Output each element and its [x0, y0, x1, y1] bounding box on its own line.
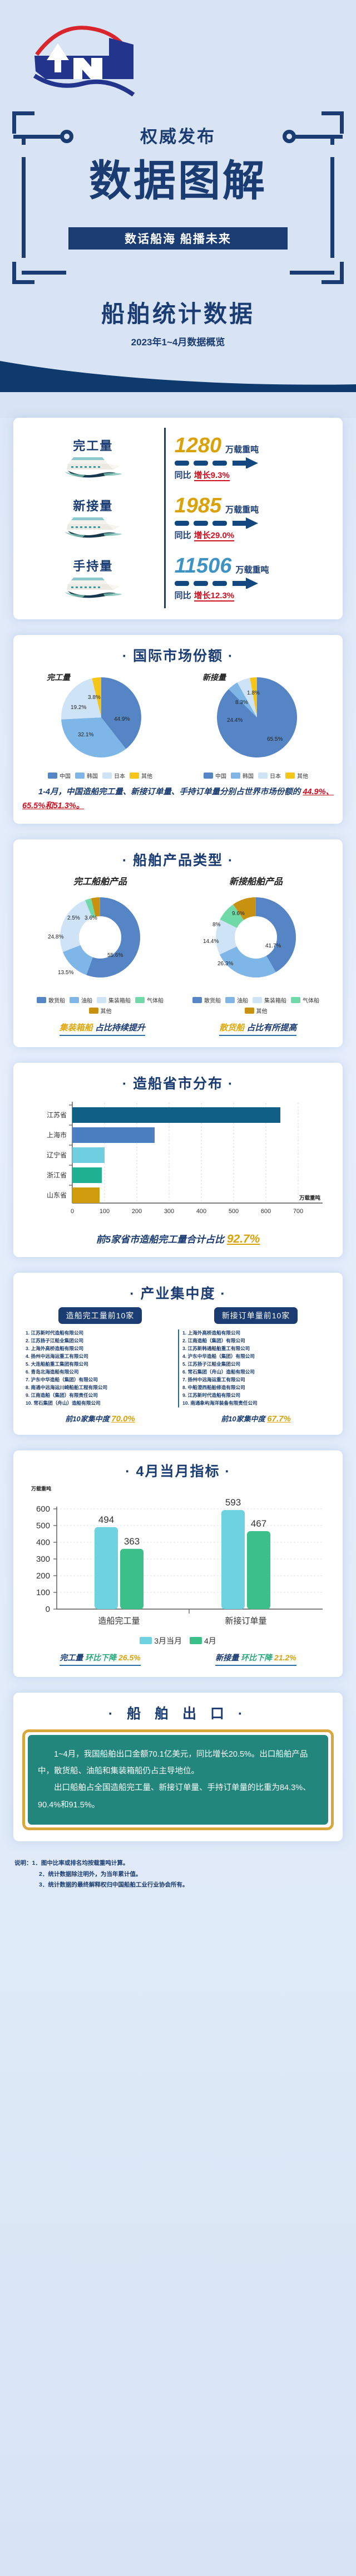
yoy-value: 增长9.3%: [194, 471, 230, 481]
bar-shanghai: [72, 1127, 155, 1143]
metrics-labels-column: 完工量 新接量: [22, 428, 166, 608]
list-item: 3. 上海外高桥造船有限公司: [26, 1345, 175, 1353]
footnote-item: 2．统计数据除注明外，为当年累计值。: [14, 1869, 342, 1880]
list-item: 2. 江苏扬子江船业集团公司: [26, 1337, 175, 1345]
legend-label: 日本: [114, 771, 125, 780]
donut-chart-completion: 55.6% 13.5% 24.8% 2.5% 3.6%: [44, 887, 156, 990]
note-subject: 完工量: [60, 1653, 83, 1662]
legend-label: 气体船: [303, 996, 319, 1004]
company-list-neworders: 1. 上海外高桥造船有限公司 2. 江南造船（集团）有限公司 3. 江苏新韩通船…: [178, 1329, 334, 1407]
bar-liaoning: [72, 1147, 105, 1163]
legend-label: 其他: [256, 1006, 268, 1015]
list-item: 6. 青岛北海造船有限公司: [26, 1368, 175, 1376]
industry-concentration-card: · 产业集中度 · 造船完工量前10家 新接订单量前10家 1. 江苏新时代造船…: [13, 1273, 343, 1434]
legend-label: 散货船: [204, 996, 221, 1004]
tagline-rest: 占比持续提升: [93, 1023, 145, 1033]
pie-value-label: 32.1%: [78, 732, 93, 738]
list-item: 8. 南通中远海运川崎船舶工程有限公司: [26, 1384, 175, 1392]
ytick-label: 江苏省: [47, 1111, 67, 1119]
export-frame: 1~4月，我国船舶出口金额70.1亿美元，同比增长20.5%。出口船舶产品中，散…: [22, 1729, 334, 1831]
ship-export-card: · 船 舶 出 口 · 1~4月，我国船舶出口金额70.1亿美元，同比增长20.…: [13, 1693, 343, 1842]
legend-label: 其他: [141, 771, 152, 780]
list-item: 2. 江南造船（集团）有限公司: [182, 1337, 330, 1345]
donut-value-label: 26.3%: [217, 961, 233, 967]
xtick-label: 100: [100, 1208, 110, 1215]
bar-march-neworders: [221, 1510, 245, 1609]
page-header: 权威发布 数据图解 数话船海 船播未来 船舶统计数据 2023年1~4月数据概览: [0, 0, 356, 418]
xtick-label: 700: [293, 1208, 303, 1215]
legend-neworders: 中国 韩国 日本 其他: [204, 771, 308, 780]
donut-value-label: 24.8%: [48, 934, 63, 940]
list-item: 6. 常石集团（舟山）造船有限公司: [182, 1368, 330, 1376]
list-item: 3. 江苏新韩通船舶重工有限公司: [182, 1345, 330, 1353]
province-note: 前5家省市造船完工量合计占比 92.7%: [22, 1231, 334, 1246]
bar-value-label: 593: [225, 1497, 241, 1508]
list-item: 1. 上海外高桥造船有限公司: [182, 1329, 330, 1337]
footnote-item: 说明：1．图中比率或排名均按载重吨计算。: [14, 1858, 342, 1869]
section-title: · 船舶产品类型 ·: [22, 849, 334, 869]
ytick-label: 辽宁省: [47, 1151, 67, 1159]
axis-unit-label: 万载重吨: [299, 1195, 321, 1201]
list-item: 4. 沪东中华造船（集团）有限公司: [182, 1353, 330, 1361]
bar-shandong: [72, 1187, 100, 1203]
list-item: 7. 沪东中华造船（集团）有限公司: [26, 1376, 175, 1384]
bar-march-completion: [95, 1527, 118, 1609]
market-share-card: · 国际市场份额 · 完工量 44.9% 32.1% 19.2% 3.8% 新接…: [13, 635, 343, 824]
xtick-label: 300: [164, 1208, 174, 1215]
pie-value-label: 44.9%: [114, 716, 130, 722]
metric-label-row: 完工量: [22, 428, 164, 488]
section-title: · 船 舶 出 口 ·: [22, 1703, 334, 1723]
ytick-label: 浙江省: [47, 1171, 67, 1179]
legend-label: 油船: [237, 996, 248, 1004]
donut-chart-neworders: 41.7% 26.3% 14.4% 8% 9.6%: [200, 887, 311, 990]
metric-value-row: 1985 万载重吨 同比增长29.0%: [175, 488, 334, 548]
pie-value-label: 24.4%: [227, 717, 243, 724]
xtick-label: 200: [132, 1208, 142, 1215]
donut-value-label: 3.6%: [85, 915, 97, 921]
xtick-label: 新接订单量: [225, 1616, 266, 1626]
company-list-completion: 1. 江苏新时代造船有限公司 2. 江苏扬子江船业集团公司 3. 上海外高桥造船…: [22, 1329, 178, 1407]
legend-label: 日本: [270, 771, 281, 780]
arrow-right-icon: [175, 578, 264, 589]
legend-label: 韩国: [243, 771, 254, 780]
metric-label-row: 新接量: [22, 488, 164, 548]
pie-value-label: 19.2%: [71, 705, 86, 711]
list-item: 10. 南通象屿海洋装备有限责任公司: [182, 1400, 330, 1407]
metric-value-row: 11506 万载重吨 同比增长12.3%: [175, 548, 334, 608]
note-value: 26.5%: [118, 1653, 141, 1662]
yoy-prefix: 同比: [175, 531, 191, 540]
legend-label: 其他: [297, 771, 308, 780]
product-tagline: 集装箱船 占比持续提升: [60, 1021, 145, 1036]
note-lead: 前5家省市造船完工量合计占比: [96, 1234, 227, 1245]
donut-value-label: 8%: [212, 922, 221, 928]
donut-value-label: 2.5%: [67, 915, 80, 921]
bar-value-label: 363: [124, 1536, 140, 1547]
conc-value: 67.7%: [267, 1414, 291, 1424]
legend-label: 油船: [81, 996, 92, 1004]
legend-product-neworders: 散货船 油船 集装箱船 气体船 其他: [184, 996, 328, 1015]
list-item: 5. 江苏扬子江船业集团公司: [182, 1361, 330, 1368]
april-note-neworders: 新接量 环比下降 21.2%: [215, 1652, 296, 1666]
april-legend: 3月当月 4月: [22, 1635, 334, 1646]
pill-neworders-top10: 新接订单量前10家: [214, 1307, 298, 1324]
province-bar-chart: 江苏省 上海市 辽宁省 浙江省 山东省 0 100 200 300 400 50…: [22, 1097, 334, 1225]
ytick-label: 山东省: [47, 1191, 67, 1199]
metric-value: 1280: [175, 435, 222, 456]
wave-divider: [0, 356, 356, 392]
legend-label: 4月: [204, 1635, 216, 1646]
note-direction: 环比下降: [85, 1653, 116, 1662]
ytick-label: 300: [36, 1555, 50, 1564]
axis-unit-label: 万载重吨: [31, 1485, 334, 1492]
authority-label: 权威发布: [12, 123, 344, 148]
arrow-right-icon: [175, 517, 264, 529]
province-distribution-card: · 造船省市分布 · 江苏省 上海市 辽宁省 浙江省 山东省: [13, 1063, 343, 1257]
yoy-prefix: 同比: [175, 591, 191, 600]
note-lead: 1-4月，中国造船完工量、新接订单量、手持订单量分别占世界市场份额的: [38, 788, 303, 796]
metric-unit: 万载重吨: [225, 443, 259, 455]
pill-completion-top10: 造船完工量前10家: [58, 1307, 142, 1324]
ytick-label: 上海市: [47, 1131, 67, 1139]
conc-lead: 前10家集中度: [65, 1415, 111, 1423]
note-direction: 环比下降: [241, 1653, 272, 1662]
bar-value-label: 494: [98, 1514, 114, 1525]
bar-april-neworders: [247, 1531, 270, 1609]
xtick-label: 造船完工量: [98, 1616, 140, 1626]
cansi-logo-icon: [24, 21, 144, 102]
market-share-note: 1-4月，中国造船完工量、新接订单量、手持订单量分别占世界市场份额的 44.9%…: [22, 785, 334, 813]
legend-label: 韩国: [87, 771, 98, 780]
concentration-left: 前10家集中度 70.0%: [65, 1413, 135, 1424]
april-indicators-card: · 4月当月指标 · 万载重吨 600 500 400 300 200 100: [13, 1450, 343, 1677]
legend-label: 集装箱船: [264, 996, 286, 1004]
legend-product-completion: 散货船 油船 集装箱船 气体船 其他: [28, 996, 172, 1015]
april-bar-chart: 600 500 400 300 200 100 0 494 363 593 46…: [22, 1492, 334, 1631]
donut-value-label: 41.7%: [265, 943, 281, 949]
section-title: · 国际市场份额 ·: [22, 645, 334, 665]
product-tagline: 散货船 占比有所提高: [219, 1021, 296, 1036]
donut-value-label: 13.5%: [58, 970, 73, 976]
legend-label: 其他: [101, 1006, 112, 1015]
legend-label: 3月当月: [154, 1635, 182, 1646]
xtick-label: 400: [196, 1208, 206, 1215]
ytick-label: 400: [36, 1538, 50, 1547]
list-item: 1. 江苏新时代造船有限公司: [26, 1329, 175, 1337]
legend-label: 中国: [215, 771, 226, 780]
section-title: · 产业集中度 ·: [22, 1283, 334, 1303]
pie-value-label: 65.5%: [267, 736, 283, 742]
metrics-values-column: 1280 万载重吨 同比增长9.3% 1985 万载重吨 同比增: [166, 428, 334, 608]
page-subtitle: 船舶统计数据: [0, 295, 356, 329]
list-item: 9. 江苏新时代造船有限公司: [182, 1392, 330, 1400]
donut-heading: 完工船舶产品: [73, 874, 127, 887]
pie-chart-completion: 完工量 44.9% 32.1% 19.2% 3.8%: [50, 669, 150, 766]
product-type-card: · 船舶产品类型 · 完工船舶产品 新接船舶产品 55.6% 13.5% 24.…: [13, 839, 343, 1047]
list-item: 10. 常石集团（舟山）造船有限公司: [26, 1400, 175, 1407]
april-note-completion: 完工量 环比下降 26.5%: [60, 1652, 140, 1666]
legend-label: 中国: [60, 771, 71, 780]
tagline-emphasis: 集装箱船: [60, 1023, 93, 1033]
xtick-label: 600: [261, 1208, 271, 1215]
xtick-label: 0: [71, 1208, 74, 1215]
ship-icon: [60, 455, 126, 480]
list-item: 4. 扬州中远海运重工有限公司: [26, 1353, 175, 1361]
section-title: · 4月当月指标 ·: [22, 1460, 334, 1480]
tagline-rest: 占比有所提高: [244, 1023, 296, 1033]
bar-jiangsu: [72, 1107, 280, 1123]
conc-value: 70.0%: [111, 1414, 135, 1424]
yoy-value: 增长29.0%: [194, 531, 235, 541]
metric-unit: 万载重吨: [225, 504, 259, 515]
donut-heading: 新接船舶产品: [229, 874, 283, 887]
ship-icon: [60, 575, 126, 600]
metric-label: 完工量: [73, 436, 113, 454]
metric-label-row: 手持量: [22, 548, 164, 608]
pie-value-label: 1.8%: [247, 690, 260, 696]
conc-lead: 前10家集中度: [221, 1415, 267, 1423]
donut-value-label: 14.4%: [203, 938, 219, 945]
bar-zhejiang: [72, 1167, 102, 1183]
ytick-label: 100: [36, 1588, 50, 1597]
bar-april-completion: [120, 1548, 144, 1609]
pie-caption: 新接量: [202, 672, 226, 683]
legend-label: 气体船: [147, 996, 164, 1004]
footnote-item: 3．统计数据的最终解释权归中国船舶工业行业协会所有。: [14, 1880, 342, 1890]
slogan-banner: 数话船海 船播未来: [68, 227, 288, 250]
page-title: 数据图解: [0, 160, 356, 203]
ytick-label: 500: [36, 1521, 50, 1531]
footnotes: 说明：1．图中比率或排名均按载重吨计算。 2．统计数据除注明外，为当年累计值。 …: [14, 1858, 342, 1890]
export-paragraph-2: 出口船舶占全国造船完工量、新接订单量、手持订单量的比重为84.3%、90.4%和…: [38, 1780, 318, 1814]
ytick-label: 600: [36, 1504, 50, 1514]
tagline-emphasis: 散货船: [219, 1023, 244, 1033]
arrow-right-icon: [175, 457, 264, 468]
list-item: 9. 江南造船（集团）有限责任公司: [26, 1392, 175, 1400]
note-highlight: 92.7%: [227, 1233, 260, 1245]
metric-label: 新接量: [73, 496, 113, 514]
concentration-right: 前10家集中度 67.7%: [221, 1413, 291, 1424]
bar-value-label: 467: [251, 1518, 266, 1529]
legend-label: 散货船: [48, 996, 65, 1004]
pie-chart-neworders: 新接量 65.5% 24.4% 8.3% 1.8%: [206, 669, 306, 766]
donut-value-label: 9.6%: [232, 911, 245, 917]
legend-completion: 中国 韩国 日本 其他: [48, 771, 152, 780]
xtick-label: 500: [229, 1208, 239, 1215]
section-title: · 造船省市分布 ·: [22, 1073, 334, 1093]
date-range-label: 2023年1~4月数据概览: [0, 334, 356, 348]
pie-value-label: 8.3%: [235, 700, 248, 706]
yoy-prefix: 同比: [175, 471, 191, 480]
list-item: 5. 大连船舶重工集团有限公司: [26, 1361, 175, 1368]
metric-value-row: 1280 万载重吨 同比增长9.3%: [175, 428, 334, 488]
note-value: 21.2%: [274, 1653, 296, 1662]
note-subject: 新接量: [215, 1653, 239, 1662]
list-item: 8. 中船澄西船舶修造有限公司: [182, 1384, 330, 1392]
ship-icon: [60, 515, 126, 540]
ytick-label: 200: [36, 1571, 50, 1581]
export-paragraph-1: 1~4月，我国船舶出口金额70.1亿美元，同比增长20.5%。出口船舶产品中，散…: [38, 1746, 318, 1780]
list-item: 7. 扬州中远海运重工有限公司: [182, 1376, 330, 1384]
ytick-label: 0: [46, 1605, 50, 1614]
pie-caption: 完工量: [47, 672, 70, 683]
yoy-value: 增长12.3%: [194, 591, 235, 602]
pie-value-label: 3.8%: [88, 695, 101, 701]
metric-value: 11506: [175, 555, 232, 576]
key-metrics-card: 完工量 新接量: [13, 418, 343, 619]
donut-value-label: 55.6%: [107, 952, 123, 959]
legend-label: 集装箱船: [108, 996, 131, 1004]
metric-unit: 万载重吨: [235, 564, 269, 575]
metric-label: 手持量: [73, 556, 113, 574]
metric-value: 1985: [175, 495, 222, 516]
